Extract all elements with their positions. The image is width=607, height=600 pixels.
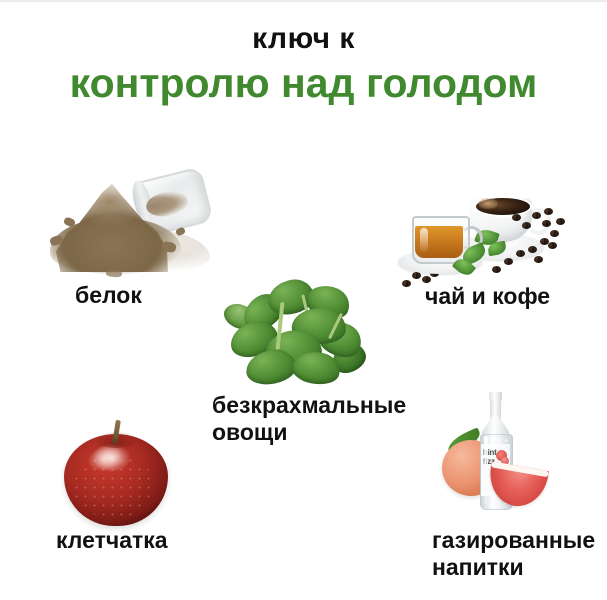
coffee-bean	[550, 230, 559, 237]
coffee-bean	[402, 280, 411, 287]
title-line-2: контролю над голодом	[0, 59, 607, 107]
caption-protein: белок	[75, 282, 235, 309]
sparkling-water-bottle-photo: hint fizz	[440, 390, 560, 510]
food-item-sparkling-drinks: hint fizz	[440, 390, 560, 510]
caption-sparkling-drinks: газированные напитки	[432, 527, 607, 581]
coffee-bean	[528, 246, 537, 253]
coffee-bean	[548, 242, 557, 249]
red-apple-photo	[62, 420, 172, 528]
poster-canvas: ключ к контролю над голодом белок	[0, 0, 607, 600]
spinach-leaves-photo	[222, 278, 372, 390]
food-item-apple	[62, 420, 172, 528]
caption-tea-coffee: чай и кофе	[425, 283, 605, 310]
bottle-highlight	[484, 436, 488, 502]
tea-glass-highlight	[420, 228, 428, 252]
food-item-tea-coffee	[396, 188, 586, 286]
coffee-bean	[522, 222, 531, 229]
coffee-crema	[478, 198, 498, 209]
coffee-bean	[422, 276, 431, 283]
poster-title: ключ к контролю над голодом	[0, 22, 607, 107]
caption-apple: клетчатка	[56, 527, 256, 554]
coffee-bean	[556, 218, 565, 225]
coffee-bean	[532, 212, 541, 219]
coffee-bean	[504, 258, 513, 265]
coffee-bean	[516, 250, 525, 257]
coffee-bean	[542, 220, 551, 227]
coffee-bean	[544, 208, 553, 215]
coffee-bean	[534, 256, 543, 263]
food-item-protein	[46, 166, 216, 278]
coffee-bean	[412, 272, 421, 279]
powder-crumb	[106, 269, 122, 277]
protein-powder-photo	[46, 166, 216, 278]
coffee-bean	[512, 214, 521, 221]
coffee-bean	[492, 266, 501, 273]
top-divider	[0, 0, 607, 2]
tea-and-coffee-photo	[396, 188, 586, 286]
title-line-1: ключ к	[0, 22, 607, 56]
caption-spinach: безкрахмальные овощи	[212, 392, 462, 446]
food-item-spinach	[222, 278, 372, 390]
